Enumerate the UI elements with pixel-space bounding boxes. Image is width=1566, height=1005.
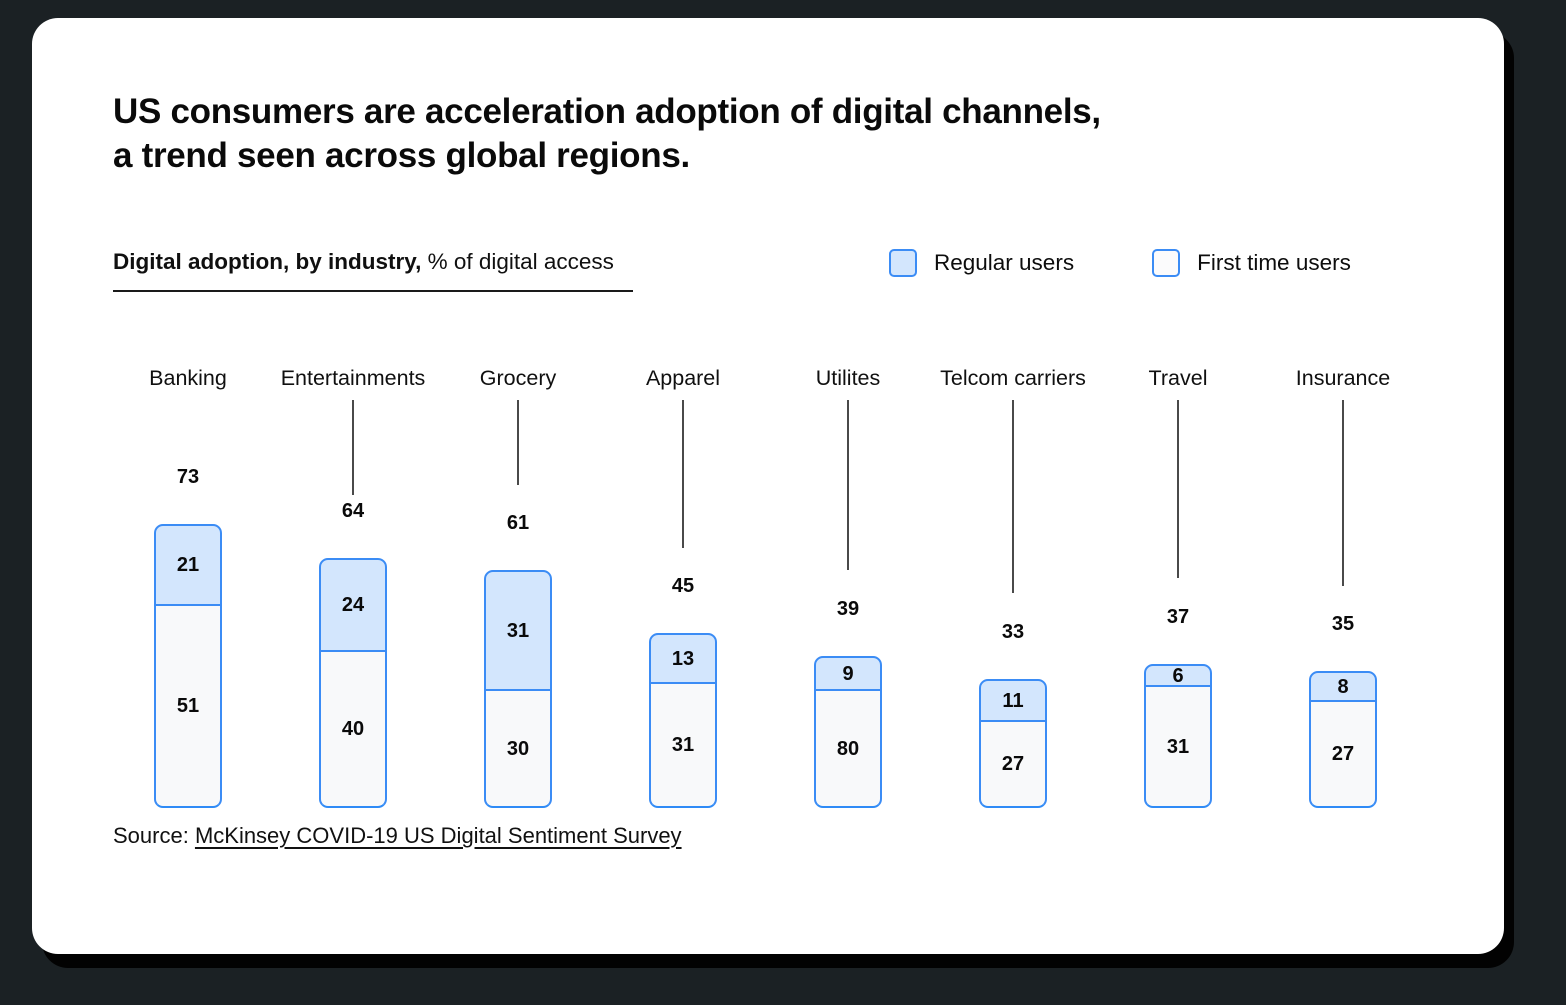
stacked-bar-chart: Banking732151Entertainments642440Grocery… xyxy=(113,348,1423,808)
segment-value: 27 xyxy=(1002,754,1024,774)
segment-value: 21 xyxy=(177,555,199,575)
segment-value: 40 xyxy=(342,719,364,739)
segment-value: 27 xyxy=(1332,744,1354,764)
bar-segment-first-time-users[interactable]: 40 xyxy=(319,652,387,808)
category-label: Insurance xyxy=(1268,366,1418,391)
legend-label: Regular users xyxy=(934,250,1074,276)
stacked-bar[interactable]: 1331 xyxy=(649,633,717,808)
bar-segment-first-time-users[interactable]: 30 xyxy=(484,691,552,808)
total-value-label: 64 xyxy=(278,500,428,523)
leader-line xyxy=(682,400,684,548)
total-value-label: 61 xyxy=(443,512,593,535)
bar-segment-regular-users[interactable]: 9 xyxy=(814,656,882,691)
category-label: Utilites xyxy=(773,366,923,391)
stacked-bar[interactable]: 1127 xyxy=(979,679,1047,808)
chart-card: US consumers are acceleration adoption o… xyxy=(32,18,1504,954)
segment-value: 31 xyxy=(1167,737,1189,757)
chart-subtitle-block: Digital adoption, by industry, % of digi… xyxy=(113,248,633,292)
segment-value: 8 xyxy=(1337,677,1348,697)
total-value-label: 39 xyxy=(773,598,923,621)
title-line-2: a trend seen across global regions. xyxy=(113,134,1313,178)
bar-segment-regular-users[interactable]: 8 xyxy=(1309,671,1377,702)
leader-line xyxy=(1012,400,1014,593)
leader-line xyxy=(847,400,849,570)
bar-segment-regular-users[interactable]: 6 xyxy=(1144,664,1212,687)
bar-segment-first-time-users[interactable]: 31 xyxy=(649,684,717,808)
bar-segment-first-time-users[interactable]: 80 xyxy=(814,691,882,808)
source-note: Source: McKinsey COVID-19 US Digital Sen… xyxy=(113,823,682,849)
bar-segment-regular-users[interactable]: 11 xyxy=(979,679,1047,722)
segment-value: 11 xyxy=(1002,691,1023,711)
segment-value: 30 xyxy=(507,739,529,759)
source-prefix: Source: xyxy=(113,823,195,848)
chart-column[interactable]: Grocery613130 xyxy=(443,348,593,808)
chart-column[interactable]: Telcom carriers331127 xyxy=(938,348,1088,808)
category-label: Apparel xyxy=(608,366,758,391)
bar-segment-regular-users[interactable]: 21 xyxy=(154,524,222,606)
segment-value: 13 xyxy=(672,649,694,669)
bar-segment-regular-users[interactable]: 13 xyxy=(649,633,717,684)
category-label: Grocery xyxy=(443,366,593,391)
bar-segment-first-time-users[interactable]: 51 xyxy=(154,606,222,808)
title-line-1: US consumers are acceleration adoption o… xyxy=(113,90,1313,134)
subtitle-divider xyxy=(113,290,633,292)
leader-line xyxy=(1342,400,1344,586)
stacked-bar[interactable]: 631 xyxy=(1144,664,1212,808)
chart-column[interactable]: Travel37631 xyxy=(1103,348,1253,808)
chart-subtitle-light: % of digital access xyxy=(421,249,614,274)
chart-subtitle: Digital adoption, by industry, % of digi… xyxy=(113,248,633,276)
total-value-label: 33 xyxy=(938,621,1088,644)
total-value-label: 35 xyxy=(1268,613,1418,636)
regular-users-swatch xyxy=(889,249,917,277)
chart-legend: Regular usersFirst time users xyxy=(889,249,1351,277)
stacked-bar[interactable]: 2151 xyxy=(154,524,222,808)
segment-value: 31 xyxy=(507,621,529,641)
category-label: Banking xyxy=(113,366,263,391)
leader-line xyxy=(352,400,354,495)
bar-segment-first-time-users[interactable]: 31 xyxy=(1144,687,1212,808)
segment-value: 6 xyxy=(1172,666,1183,686)
legend-label: First time users xyxy=(1197,250,1351,276)
leader-line xyxy=(517,400,519,485)
bar-segment-first-time-users[interactable]: 27 xyxy=(979,722,1047,808)
segment-value: 24 xyxy=(342,595,364,615)
chart-column[interactable]: Entertainments642440 xyxy=(278,348,428,808)
chart-column[interactable]: Apparel451331 xyxy=(608,348,758,808)
screenshot-stage: US consumers are acceleration adoption o… xyxy=(0,0,1566,1005)
page-title: US consumers are acceleration adoption o… xyxy=(113,90,1313,178)
total-value-label: 37 xyxy=(1103,606,1253,629)
stacked-bar[interactable]: 980 xyxy=(814,656,882,808)
total-value-label: 45 xyxy=(608,575,758,598)
first-time-users-swatch xyxy=(1152,249,1180,277)
chart-subtitle-bold: Digital adoption, by industry, xyxy=(113,249,421,274)
stacked-bar[interactable]: 827 xyxy=(1309,671,1377,808)
segment-value: 51 xyxy=(177,696,199,716)
segment-value: 80 xyxy=(837,739,859,759)
bar-segment-first-time-users[interactable]: 27 xyxy=(1309,702,1377,808)
bar-segment-regular-users[interactable]: 31 xyxy=(484,570,552,691)
leader-line xyxy=(1177,400,1179,578)
category-label: Travel xyxy=(1103,366,1253,391)
chart-column[interactable]: Utilites39980 xyxy=(773,348,923,808)
total-value-label: 73 xyxy=(113,466,263,489)
bar-segment-regular-users[interactable]: 24 xyxy=(319,558,387,652)
legend-item-regular-users[interactable]: Regular users xyxy=(889,249,1074,277)
chart-column[interactable]: Banking732151 xyxy=(113,348,263,808)
legend-item-first-time-users[interactable]: First time users xyxy=(1152,249,1351,277)
chart-column[interactable]: Insurance35827 xyxy=(1268,348,1418,808)
category-label: Telcom carriers xyxy=(938,366,1088,391)
segment-value: 9 xyxy=(842,664,853,684)
stacked-bar[interactable]: 3130 xyxy=(484,570,552,808)
source-link[interactable]: McKinsey COVID-19 US Digital Sentiment S… xyxy=(195,823,682,848)
segment-value: 31 xyxy=(672,735,694,755)
category-label: Entertainments xyxy=(278,366,428,391)
stacked-bar[interactable]: 2440 xyxy=(319,558,387,808)
